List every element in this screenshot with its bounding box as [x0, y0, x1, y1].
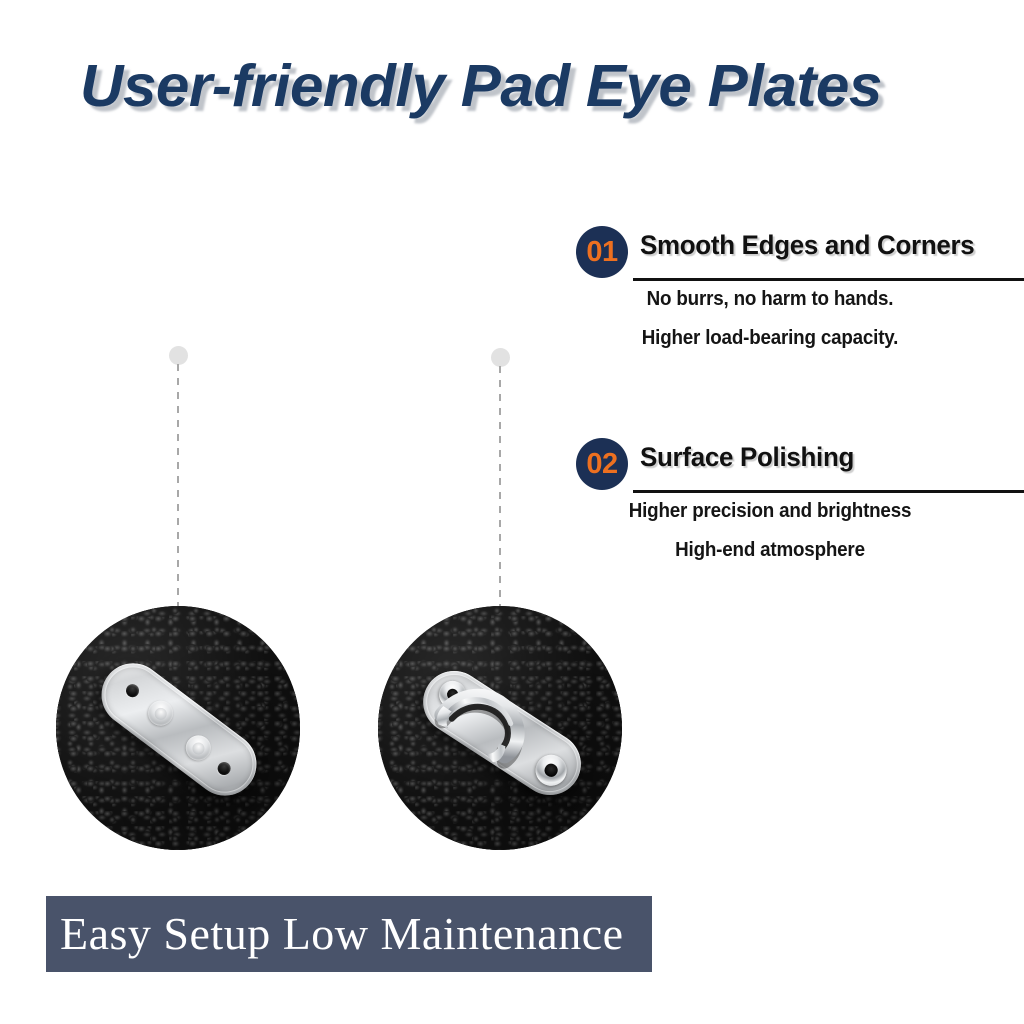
- feature-02-header: 02 Surface Polishing: [576, 438, 1024, 492]
- feature-01-description: No burrs, no harm to hands. Higher load-…: [576, 288, 1024, 350]
- feature-02-divider: [633, 490, 1024, 493]
- feature-01-divider: [633, 278, 1024, 281]
- feature-block-01: 01 Smooth Edges and Corners No burrs, no…: [576, 226, 1024, 350]
- feature-02-title: Surface Polishing: [640, 442, 854, 473]
- feature-block-02: 02 Surface Polishing Higher precision an…: [576, 438, 1024, 562]
- feature-02-description: Higher precision and brightness High-end…: [576, 500, 1024, 562]
- feature-02-line-2: High-end atmosphere: [588, 539, 953, 562]
- feature-02-line-1: Higher precision and brightness: [588, 500, 953, 523]
- feature-01-header: 01 Smooth Edges and Corners: [576, 226, 1024, 280]
- feature-01-number-badge: 01: [576, 226, 628, 278]
- leader-dot-icon: [491, 348, 510, 367]
- dashed-leader-line-icon: [177, 364, 179, 628]
- feature-01-line-2: Higher load-bearing capacity.: [588, 327, 953, 350]
- dashed-leader-line-icon: [499, 366, 501, 628]
- feature-01-line-1: No burrs, no harm to hands.: [588, 288, 953, 311]
- product-photo-pad-eye-plate-base: [56, 606, 300, 850]
- product-photo-pad-eye-plate-with-ring: [378, 606, 622, 850]
- page-title: User-friendly Pad Eye Plates: [80, 52, 998, 120]
- feature-02-number-badge: 02: [576, 438, 628, 490]
- feature-01-title: Smooth Edges and Corners: [640, 230, 974, 261]
- leader-dot-icon: [169, 346, 188, 365]
- bottom-banner-text: Easy Setup Low Maintenance: [60, 896, 700, 972]
